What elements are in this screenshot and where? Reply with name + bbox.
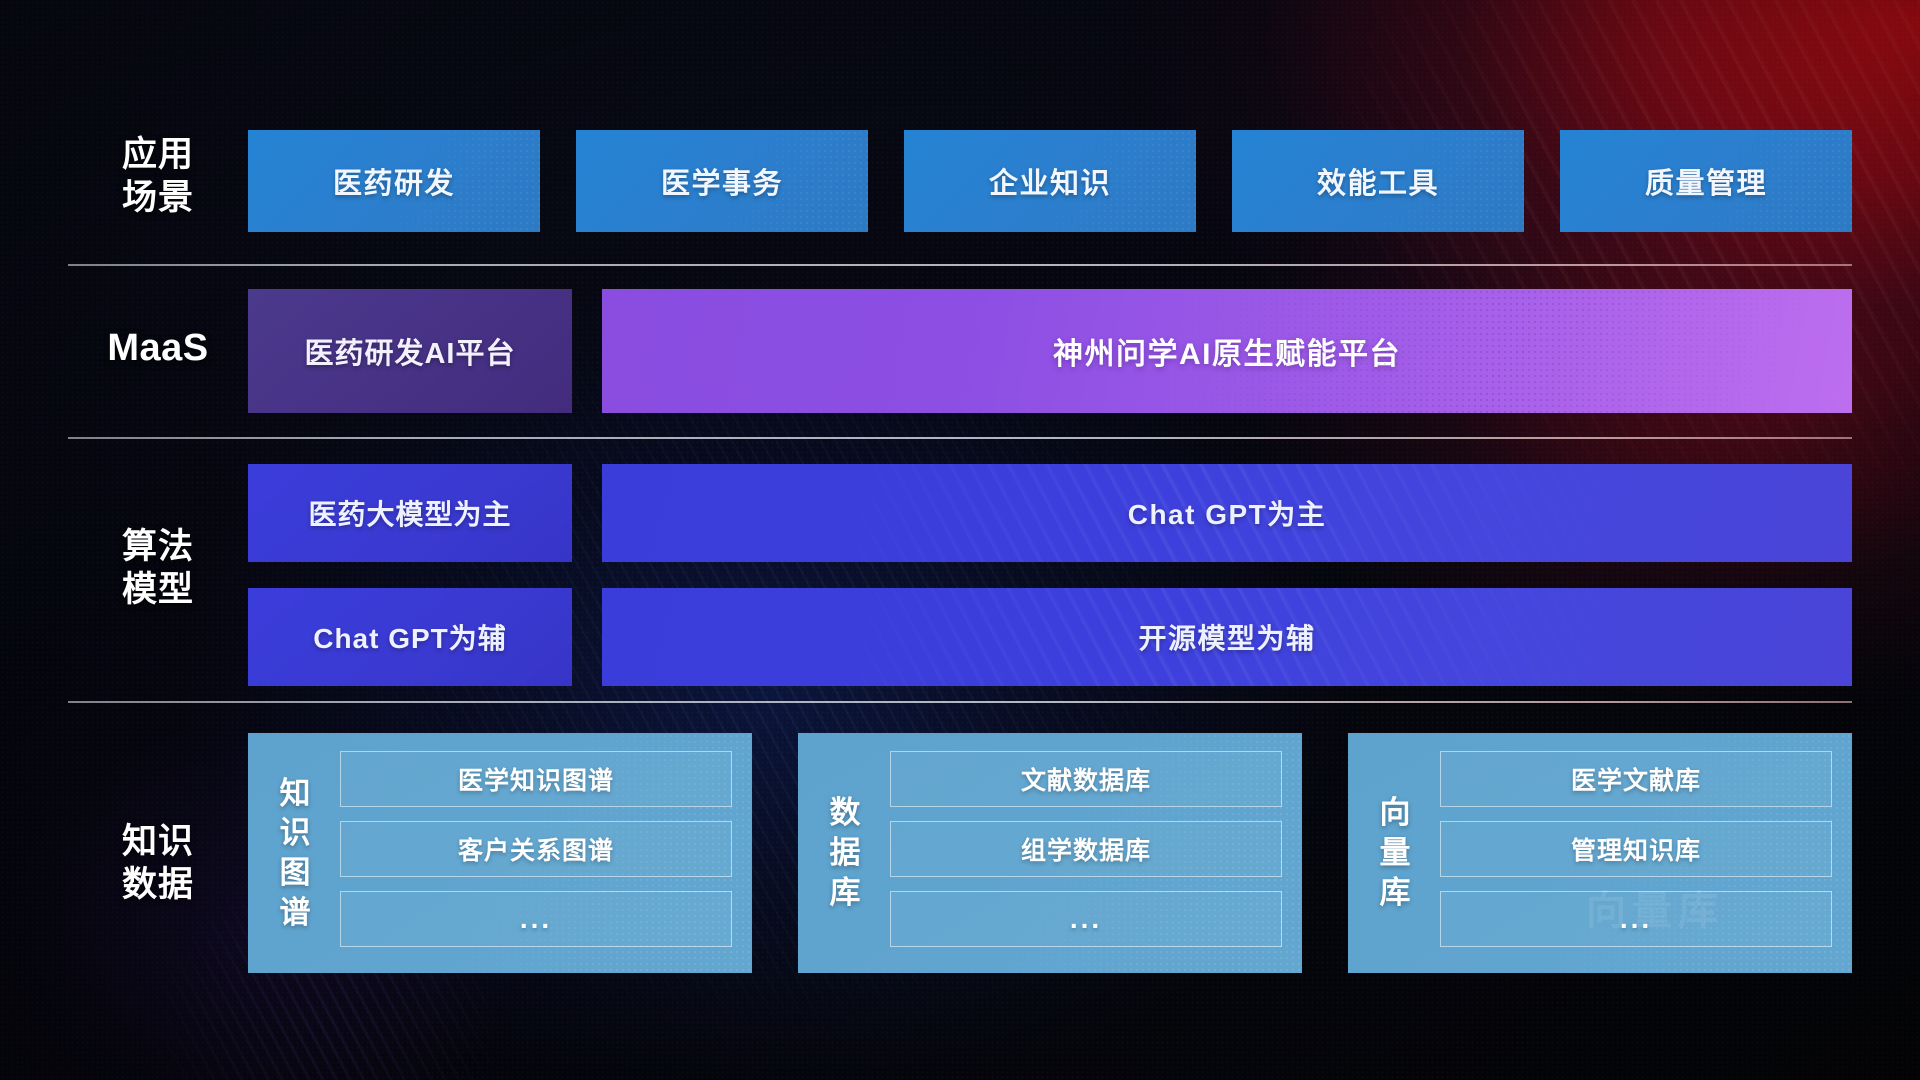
vertical-label-char: 知: [280, 774, 311, 814]
knowledge-card-label-knowledge-graph: 知识图谱: [264, 751, 326, 955]
divider-after-maas: [68, 437, 1852, 439]
knowledge-card-item-list-vector-store: 医学文献库 管理知识库 ...: [1440, 751, 1832, 955]
row-label-line-2: 场景: [68, 177, 248, 220]
maas-box-shenzhou-wenxue-platform[interactable]: 神州问学AI原生赋能平台: [602, 289, 1852, 413]
algo-box-open-source-secondary[interactable]: 开源模型为辅: [602, 588, 1852, 686]
knowledge-data-card-track: 知识图谱 医学知识图谱 客户关系图谱 ... 数据库 文献数据库 组学数据库 .…: [248, 733, 1852, 973]
vertical-label-char: 库: [830, 873, 861, 913]
knowledge-item-medical-knowledge-graph[interactable]: 医学知识图谱: [340, 751, 732, 807]
row-label-algorithm-models: 算法 模型: [68, 526, 248, 611]
knowledge-card-item-list-knowledge-graph: 医学知识图谱 客户关系图谱 ...: [340, 751, 732, 955]
diagram-canvas: 应用 场景 医药研发 医学事务 企业知识 效能工具 质量管理 MaaS 医药研发…: [0, 0, 1920, 1080]
row-label-line-2: 数据: [68, 864, 248, 907]
knowledge-item-literature-database[interactable]: 文献数据库: [890, 751, 1282, 807]
scenario-box-efficiency-tools[interactable]: 效能工具: [1232, 130, 1524, 232]
scenario-box-enterprise-knowledge[interactable]: 企业知识: [904, 130, 1196, 232]
knowledge-item-omics-database[interactable]: 组学数据库: [890, 821, 1282, 877]
scenario-box-quality-management[interactable]: 质量管理: [1560, 130, 1852, 232]
row-label-line-1: 应用: [68, 134, 248, 177]
knowledge-item-medical-literature-store[interactable]: 医学文献库: [1440, 751, 1832, 807]
algo-box-pharma-large-model-primary[interactable]: 医药大模型为主: [248, 464, 572, 562]
knowledge-card-database[interactable]: 数据库 文献数据库 组学数据库 ...: [798, 733, 1302, 973]
knowledge-item-customer-relation-graph[interactable]: 客户关系图谱: [340, 821, 732, 877]
maas-box-drug-rd-ai-platform[interactable]: 医药研发AI平台: [248, 289, 572, 413]
vertical-label-char: 图: [280, 853, 311, 893]
algorithm-model-row-secondary: Chat GPT为辅 开源模型为辅: [248, 588, 1852, 686]
divider-after-algorithm-models: [68, 701, 1852, 703]
scenario-box-medical-affairs[interactable]: 医学事务: [576, 130, 868, 232]
row-label-line-1: 算法: [68, 526, 248, 569]
algorithm-model-row-primary: 医药大模型为主 Chat GPT为主: [248, 464, 1852, 562]
knowledge-card-knowledge-graph[interactable]: 知识图谱 医学知识图谱 客户关系图谱 ...: [248, 733, 752, 973]
divider-after-application-scenarios: [68, 264, 1852, 266]
knowledge-item-more-vector-store[interactable]: ...: [1440, 891, 1832, 947]
knowledge-card-vector-store[interactable]: 向量库 医学文献库 管理知识库 ...: [1348, 733, 1852, 973]
scenario-box-drug-rd[interactable]: 医药研发: [248, 130, 540, 232]
vertical-label-char: 数: [830, 793, 861, 833]
application-scenario-box-track: 医药研发 医学事务 企业知识 效能工具 质量管理: [248, 130, 1852, 232]
row-label-maas: MaaS: [68, 325, 248, 371]
knowledge-item-more-database[interactable]: ...: [890, 891, 1282, 947]
knowledge-card-item-list-database: 文献数据库 组学数据库 ...: [890, 751, 1282, 955]
knowledge-item-more-knowledge-graph[interactable]: ...: [340, 891, 732, 947]
row-label-line-1: 知识: [68, 821, 248, 864]
row-label-application-scenarios: 应用 场景: [68, 134, 248, 219]
diagram-content: 应用 场景 医药研发 医学事务 企业知识 效能工具 质量管理 MaaS 医药研发…: [0, 0, 1920, 1080]
vertical-label-char: 谱: [280, 893, 311, 933]
vertical-label-char: 量: [1380, 833, 1411, 873]
maas-box-track: 医药研发AI平台 神州问学AI原生赋能平台: [248, 289, 1852, 413]
algo-box-chatgpt-secondary[interactable]: Chat GPT为辅: [248, 588, 572, 686]
knowledge-card-label-vector-store: 向量库: [1364, 751, 1426, 955]
vertical-label-char: 据: [830, 833, 861, 873]
row-label-knowledge-data: 知识 数据: [68, 821, 248, 906]
knowledge-item-management-knowledge-base[interactable]: 管理知识库: [1440, 821, 1832, 877]
row-label-line-2: 模型: [68, 569, 248, 612]
vertical-label-char: 向: [1380, 793, 1411, 833]
knowledge-card-label-database: 数据库: [814, 751, 876, 955]
vertical-label-char: 库: [1380, 873, 1411, 913]
algo-box-chatgpt-primary[interactable]: Chat GPT为主: [602, 464, 1852, 562]
vertical-label-char: 识: [280, 813, 311, 853]
algorithm-model-grid: 医药大模型为主 Chat GPT为主 Chat GPT为辅 开源模型为辅: [248, 464, 1852, 686]
